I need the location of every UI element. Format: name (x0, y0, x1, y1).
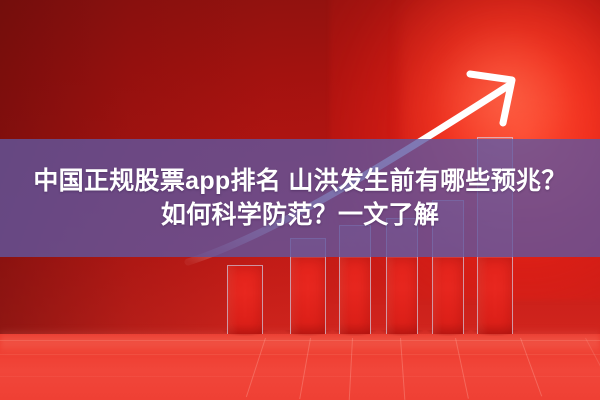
floor-depth-line-2 (0, 376, 600, 377)
title-line-2: 如何科学防范？一文了解 (161, 198, 439, 233)
bar-1 (227, 265, 263, 334)
bar-6-fill (478, 258, 512, 334)
bar-4-fill (387, 258, 417, 334)
bar-5-fill (433, 258, 463, 334)
title-line-1: 中国正规股票app排名 山洪发生前有哪些预兆？ (33, 164, 566, 199)
bar-2-fill (291, 258, 325, 334)
banner-image: 中国正规股票app排名 山洪发生前有哪些预兆？ 如何科学防范？一文了解 (0, 0, 600, 400)
bar-3-fill (340, 258, 370, 334)
bar-1-fill (228, 266, 262, 334)
title-overlay-band: 中国正规股票app排名 山洪发生前有哪些预兆？ 如何科学防范？一文了解 (0, 139, 600, 257)
floor-depth-line-1 (0, 354, 600, 355)
